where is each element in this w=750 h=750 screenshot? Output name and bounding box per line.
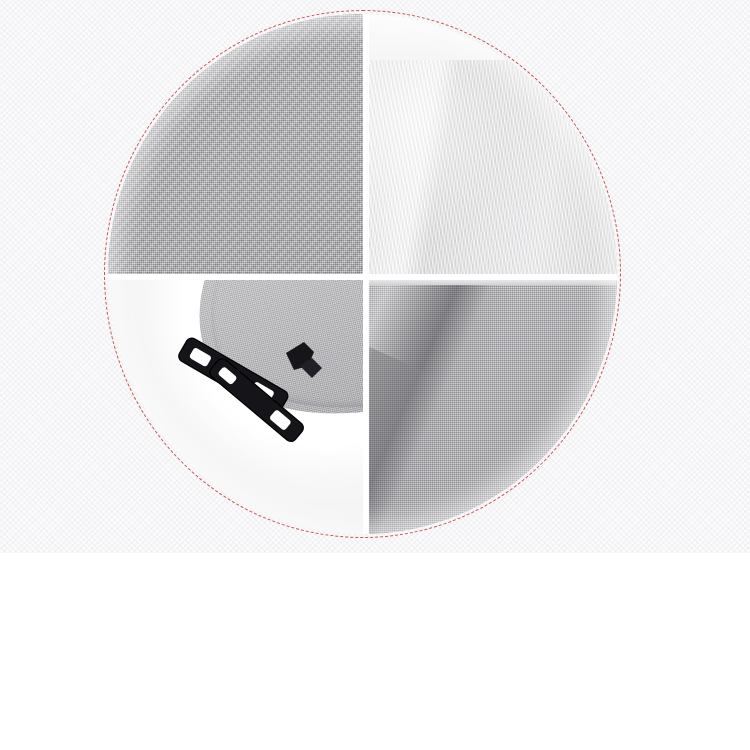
fabric-fold-shadow-primary <box>369 280 520 534</box>
fabric-top-edge-strip <box>369 280 617 285</box>
quadrant-black-zipper-pulls <box>108 280 363 534</box>
quadrant-white-velvet-lining <box>369 14 617 274</box>
circular-product-collage <box>108 14 617 534</box>
product-feature-graphic: 1. Material Selection 2. Waterproof 3. S… <box>0 0 750 750</box>
hero-texture-panel <box>0 0 750 553</box>
feature-caption-panel: 1. Material Selection 2. Waterproof 3. S… <box>0 553 750 750</box>
quadrant-gray-woven-linen-fabric <box>108 14 363 274</box>
quadrant-divider-horizontal <box>108 274 617 280</box>
velvet-top-background-band <box>369 14 617 60</box>
zipper-pulls-icon <box>108 280 363 534</box>
zipper-pull-group <box>108 280 363 534</box>
quadrant-concealed-outer-pocket-fold <box>369 280 617 534</box>
